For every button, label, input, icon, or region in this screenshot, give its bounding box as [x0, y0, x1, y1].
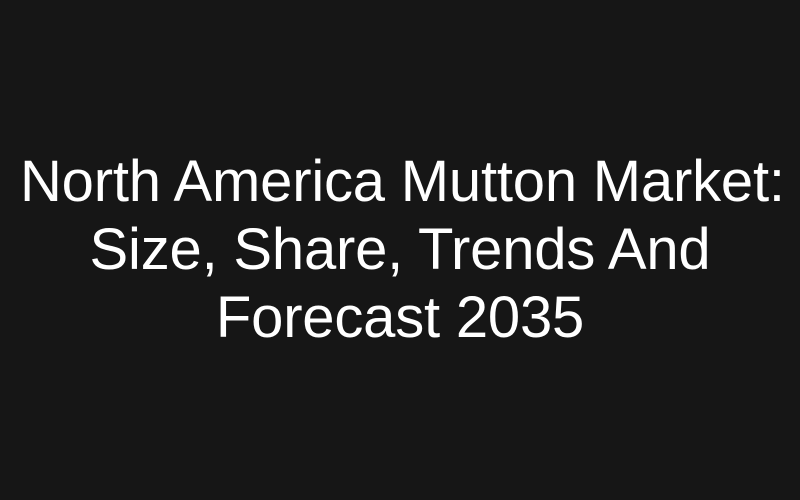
page-title: North America Mutton Market: Size, Share… — [20, 148, 780, 352]
page-title-line-3: Forecast 2035 — [20, 284, 780, 352]
page-title-line-2: Size, Share, Trends And — [20, 216, 780, 284]
page-title-line-1: North America Mutton Market: — [20, 148, 780, 216]
title-card: North America Mutton Market: Size, Share… — [0, 0, 800, 500]
